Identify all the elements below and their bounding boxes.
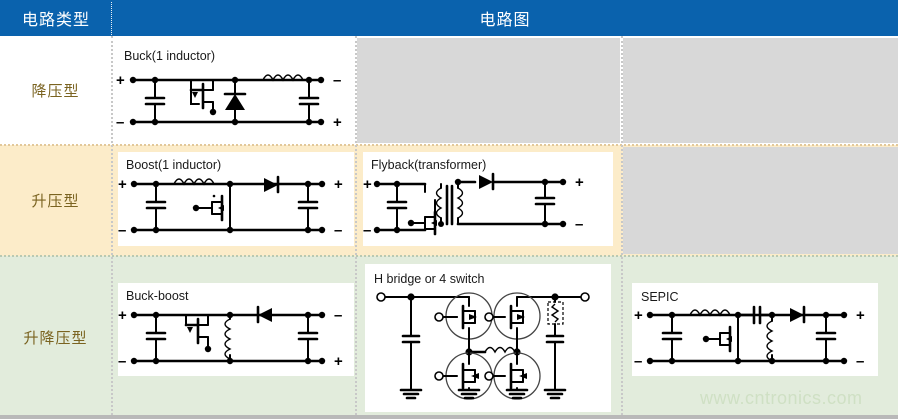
terminal-minus-out: – bbox=[856, 353, 864, 370]
column-separator-3 bbox=[621, 36, 623, 415]
watermark: www.cntronics.com bbox=[700, 388, 863, 409]
terminal-minus-in: – bbox=[118, 222, 126, 239]
row-separator-1 bbox=[0, 144, 898, 146]
circuit-card-h-bridge: H bridge or 4 switch bbox=[365, 264, 611, 412]
table-bottom-border bbox=[0, 415, 898, 419]
empty-cell-row2-col3 bbox=[623, 147, 898, 254]
terminal-plus-in: + bbox=[118, 176, 127, 193]
circuit-title-flyback: Flyback(transformer) bbox=[371, 158, 486, 172]
circuit-card-flyback: Flyback(transformer) bbox=[363, 152, 613, 246]
empty-cell-row1-col3 bbox=[623, 38, 898, 143]
terminal-plus-out: + bbox=[856, 307, 865, 324]
terminal-minus-out: – bbox=[333, 72, 341, 89]
circuit-title-sepic: SEPIC bbox=[641, 290, 679, 304]
terminal-plus-out: + bbox=[575, 174, 584, 191]
circuit-card-buck-boost: Buck-boost bbox=[118, 283, 354, 376]
terminal-minus-out: – bbox=[334, 307, 342, 324]
terminal-plus-out: + bbox=[334, 176, 343, 193]
terminal-minus-in: – bbox=[118, 353, 126, 370]
circuit-title-h-bridge: H bridge or 4 switch bbox=[374, 272, 484, 286]
circuit-diagram-h-bridge bbox=[365, 264, 611, 412]
terminal-plus-in: + bbox=[118, 307, 127, 324]
circuit-card-boost: Boost(1 inductor) bbox=[118, 152, 354, 246]
header-cell-circuit-type: 电路类型 bbox=[0, 0, 112, 36]
circuit-title-buck-boost: Buck-boost bbox=[126, 289, 189, 303]
terminal-minus-in: – bbox=[116, 114, 124, 131]
terminal-plus-in: + bbox=[634, 307, 643, 324]
circuit-card-buck: Buck(1 inductor) bbox=[113, 38, 353, 143]
circuit-card-sepic: SEPIC bbox=[632, 283, 878, 376]
terminal-plus-out: + bbox=[334, 353, 343, 370]
terminal-minus-in: – bbox=[634, 353, 642, 370]
circuit-topology-table: 电路类型 电路图 降压型 升压型 升降压型 Buck(1 inductor) bbox=[0, 0, 898, 419]
terminal-plus-in: + bbox=[116, 72, 125, 89]
circuit-title-buck: Buck(1 inductor) bbox=[124, 49, 215, 63]
row-separator-2 bbox=[0, 255, 898, 257]
row-label-step-down: 降压型 bbox=[0, 36, 111, 145]
header-cell-circuit-diagram: 电路图 bbox=[112, 0, 898, 36]
table-header: 电路类型 电路图 bbox=[0, 0, 898, 36]
circuit-title-boost: Boost(1 inductor) bbox=[126, 158, 221, 172]
terminal-plus-in: + bbox=[363, 176, 372, 193]
empty-cell-row1-col2 bbox=[357, 38, 620, 143]
terminal-minus-out: – bbox=[334, 222, 342, 239]
terminal-minus-out: – bbox=[575, 216, 583, 233]
column-separator-1 bbox=[111, 36, 113, 415]
terminal-plus-out: + bbox=[333, 114, 342, 131]
column-separator-2 bbox=[355, 36, 357, 415]
header-column-divider bbox=[111, 2, 112, 35]
row-label-step-up-down: 升降压型 bbox=[0, 256, 111, 419]
terminal-minus-in: – bbox=[363, 222, 371, 239]
row-label-step-up: 升压型 bbox=[0, 145, 111, 256]
